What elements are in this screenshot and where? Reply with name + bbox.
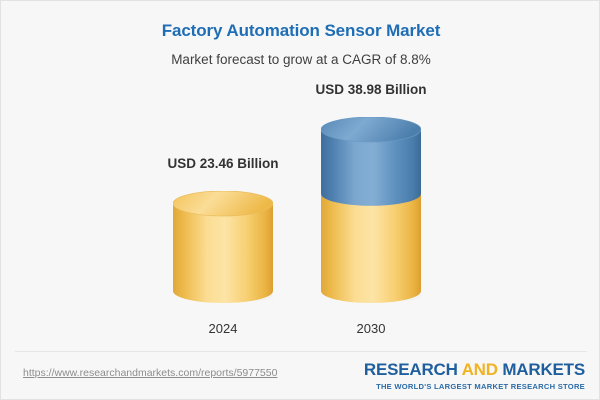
bar-group-2030: USD 38.98 Billion <box>321 1 421 351</box>
logo-tagline: THE WORLD'S LARGEST MARKET RESEARCH STOR… <box>364 382 585 391</box>
report-url-link[interactable]: https://www.researchandmarkets.com/repor… <box>23 367 277 379</box>
logo-word-markets: MARKETS <box>498 360 585 379</box>
footer: https://www.researchandmarkets.com/repor… <box>1 352 600 400</box>
infographic-card: Factory Automation Sensor Market Market … <box>0 0 600 400</box>
chart-plot-area: USD 23.46 Billion <box>1 1 600 351</box>
bar-cylinder-2030 <box>321 117 421 304</box>
bar-value-label: USD 23.46 Billion <box>113 156 333 171</box>
bar-category-label: 2030 <box>261 321 481 336</box>
bar-cylinder-2024 <box>173 191 273 304</box>
logo-wordmark: RESEARCH AND MARKETS <box>364 360 585 380</box>
research-and-markets-logo[interactable]: RESEARCH AND MARKETS THE WORLD'S LARGEST… <box>364 360 585 391</box>
logo-word-research: RESEARCH <box>364 360 462 379</box>
logo-word-and: AND <box>462 360 498 379</box>
bar-group-2024: USD 23.46 Billion <box>173 1 273 351</box>
bar-value-label: USD 38.98 Billion <box>261 82 481 97</box>
